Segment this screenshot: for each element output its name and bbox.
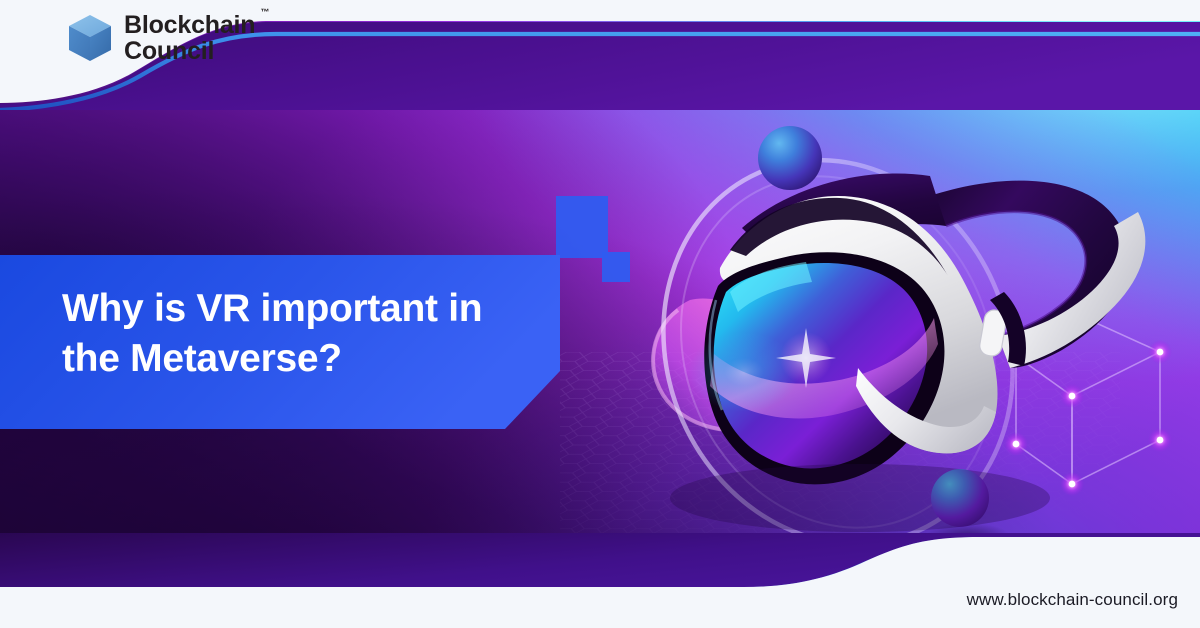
cube-icon [67,13,113,63]
brand-name: Blockchain Council ™ [124,12,255,65]
sphere-upper [758,126,822,190]
headline-banner: Why is VR important in the Metaverse? [0,255,600,429]
promo-banner: Why is VR important in the Metaverse? [0,0,1200,628]
blue-square-large [556,196,608,258]
page-title: Why is VR important in the Metaverse? [62,284,542,384]
brand-name-line1: Blockchain [124,12,255,38]
brand-name-line2: Council [124,38,255,64]
footer-website-url[interactable]: www.blockchain-council.org [967,590,1178,610]
blue-square-small [602,252,630,282]
trademark-symbol: ™ [260,8,269,17]
brand-logo[interactable]: Blockchain Council ™ [67,12,255,65]
